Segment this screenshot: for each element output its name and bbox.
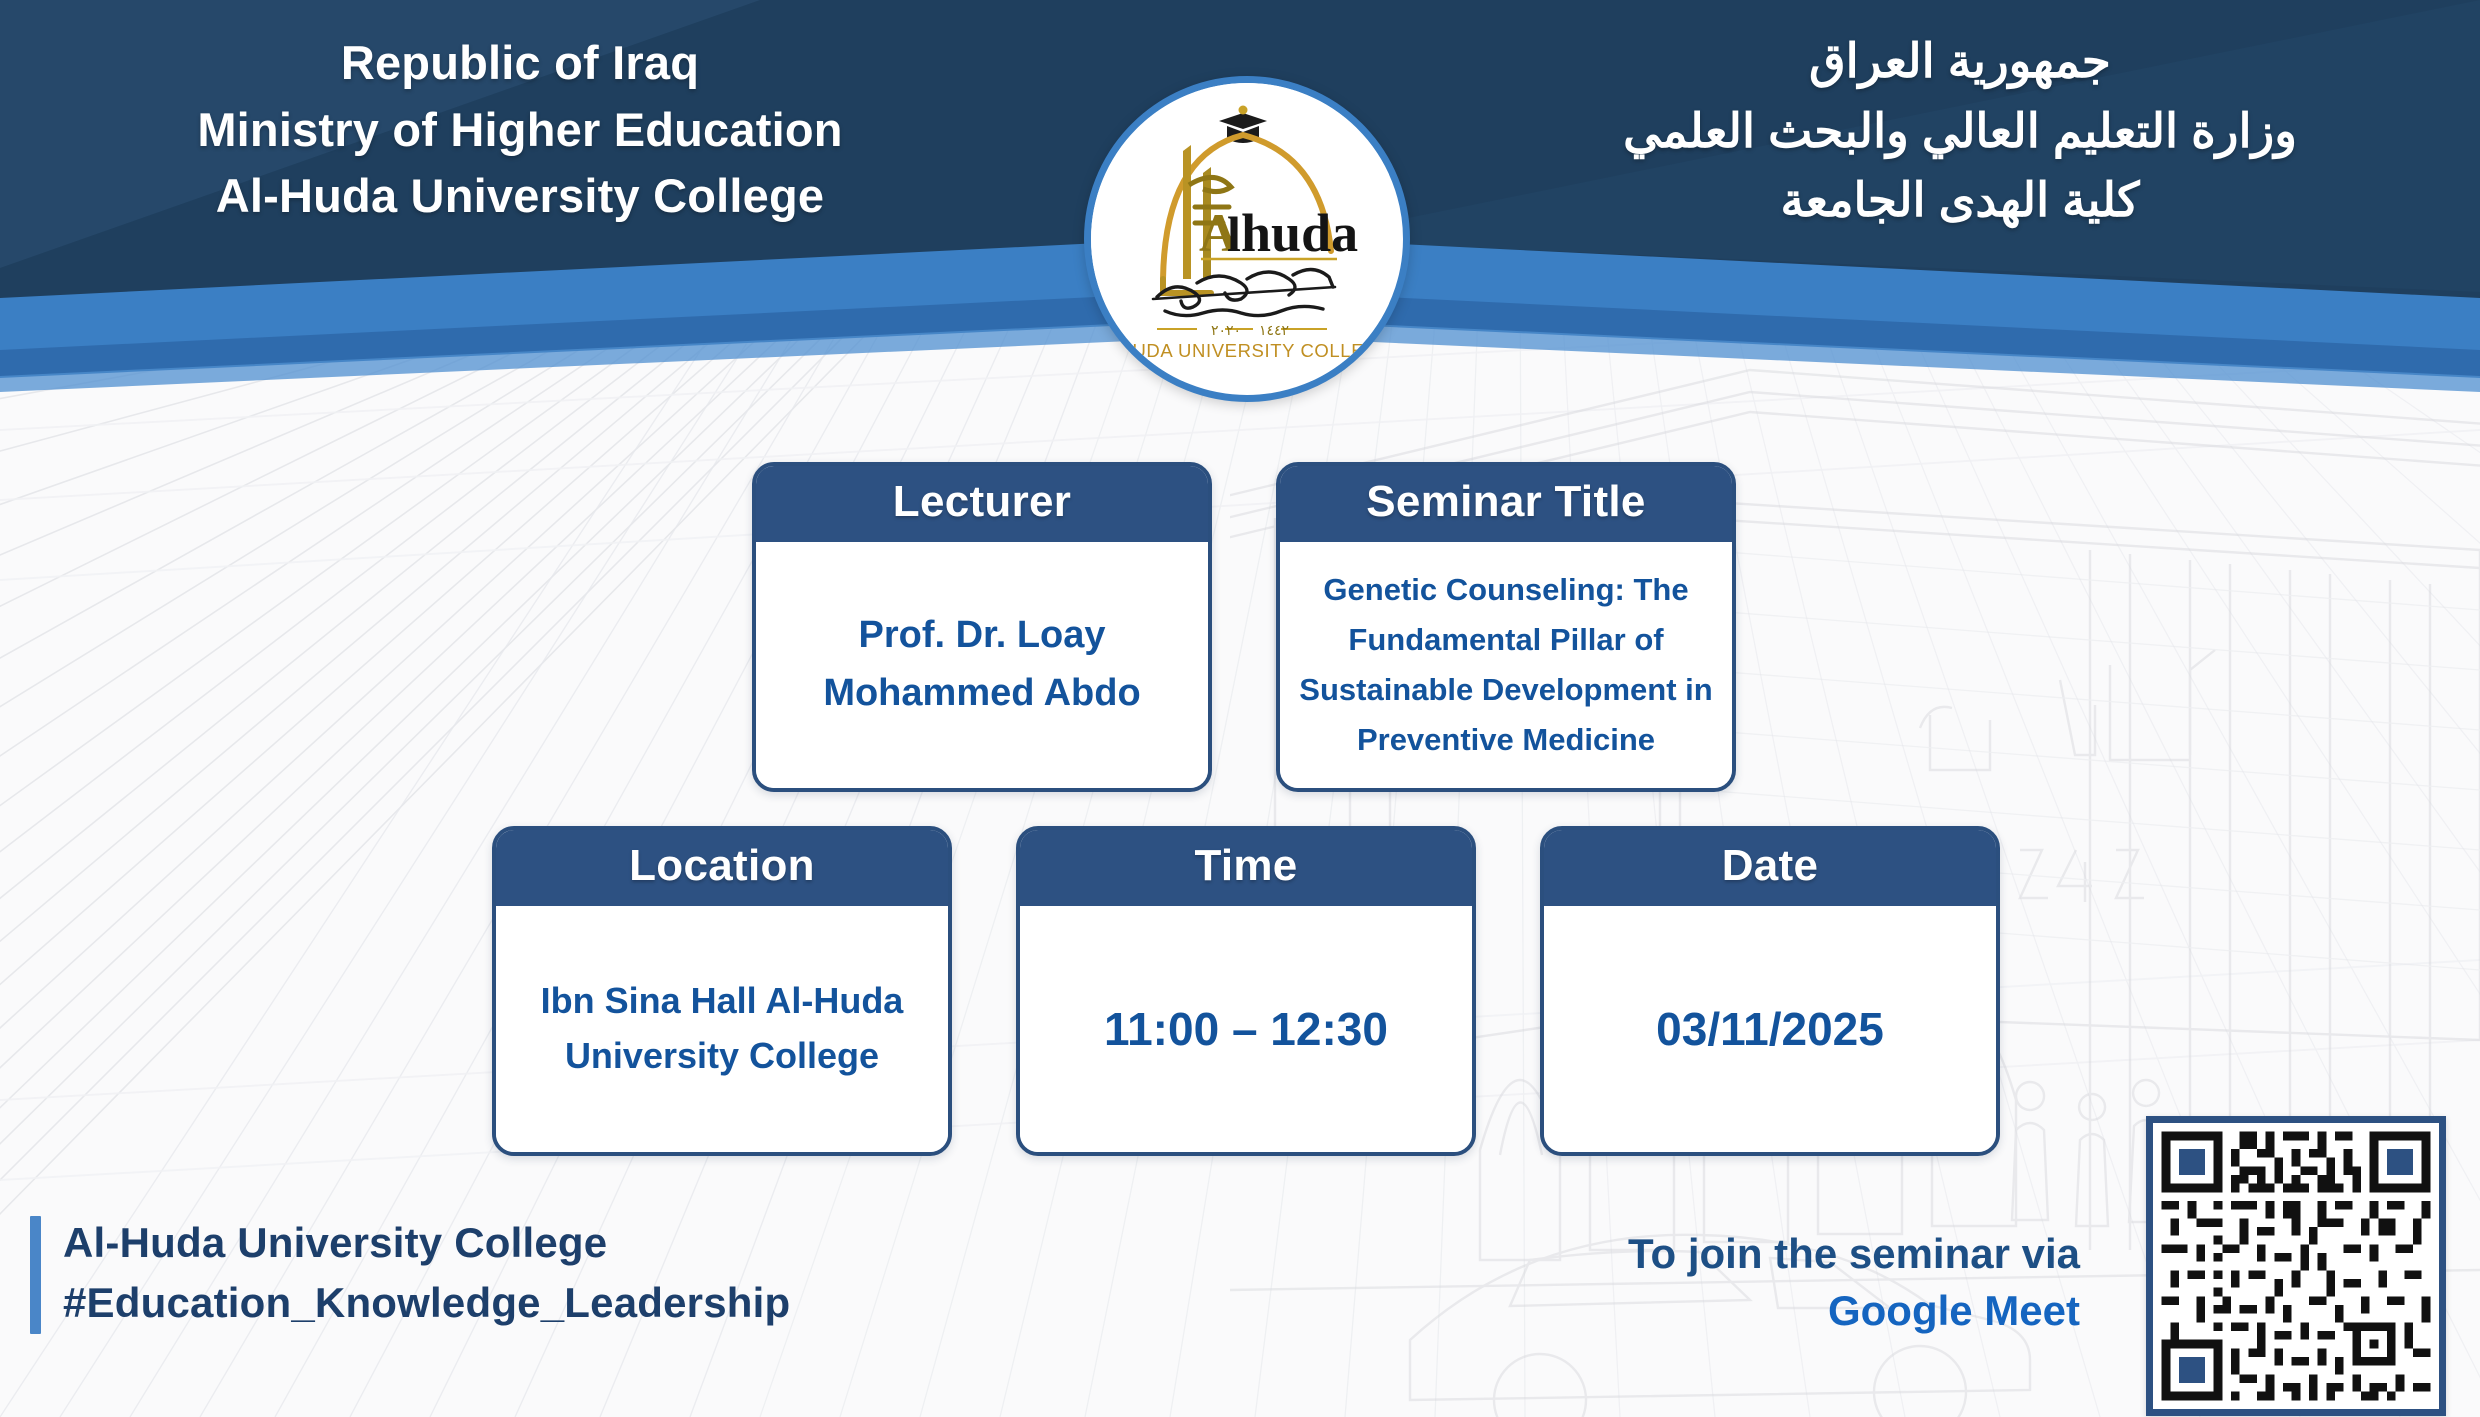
card-seminar-value: Genetic Counseling: The Fundamental Pill…	[1296, 565, 1716, 766]
logo-year-hijri: ١٤٤٢	[1259, 323, 1289, 339]
logo-english-name: AL-HUDA UNIVERSITY COLLEGE	[1091, 340, 1389, 361]
join-line-2: Google Meet	[1628, 1285, 2080, 1336]
card-location-body: Ibn Sina Hall Al-Huda University College	[496, 906, 948, 1152]
university-logo: A l huda ٢٠٢٠ ١٤٤٢ AL-HUDA UNIVERSITY CO…	[1084, 76, 1410, 402]
card-date-title: Date	[1544, 830, 1996, 906]
qr-code-matrix[interactable]	[2153, 1123, 2439, 1409]
header-en-line1: Republic of Iraq	[120, 30, 920, 97]
header-en-line2: Ministry of Higher Education	[120, 97, 920, 164]
logo-year-gregorian: ٢٠٢٠	[1211, 323, 1241, 339]
card-seminar-title: Seminar Title Genetic Counseling: The Fu…	[1276, 462, 1736, 792]
card-date-body: 03/11/2025	[1544, 906, 1996, 1152]
header-en-line3: Al-Huda University College	[120, 163, 920, 230]
header-ar-line1: جمهورية العراق	[1550, 26, 2370, 96]
card-time: Time 11:00 – 12:30	[1016, 826, 1476, 1156]
card-location-value: Ibn Sina Hall Al-Huda University College	[512, 974, 932, 1083]
card-seminar-body: Genetic Counseling: The Fundamental Pill…	[1280, 542, 1732, 788]
header-arabic-block: جمهورية العراق وزارة التعليم العالي والب…	[1550, 26, 2370, 235]
qr-code[interactable]	[2146, 1116, 2446, 1416]
svg-text:l: l	[1227, 206, 1241, 262]
card-location-title: Location	[496, 830, 948, 906]
logo-artwork: A l huda ٢٠٢٠ ١٤٤٢ AL-HUDA UNIVERSITY CO…	[1091, 83, 1389, 381]
footer-college-name: Al-Huda University College	[63, 1218, 790, 1268]
header-english-block: Republic of Iraq Ministry of Higher Educ…	[120, 30, 920, 230]
card-lecturer-body: Prof. Dr. Loay Mohammed Abdo	[756, 542, 1208, 788]
card-date: Date 03/11/2025	[1540, 826, 2000, 1156]
join-instructions: To join the seminar via Google Meet	[1628, 1228, 2080, 1336]
header-ar-line3: كلية الهدى الجامعة	[1550, 165, 2370, 235]
seminar-poster: Republic of Iraq Ministry of Higher Educ…	[0, 0, 2480, 1417]
svg-text:huda: huda	[1241, 203, 1358, 263]
card-seminar-title-label: Seminar Title	[1280, 466, 1732, 542]
join-line-1: To join the seminar via	[1628, 1228, 2080, 1279]
card-lecturer: Lecturer Prof. Dr. Loay Mohammed Abdo	[752, 462, 1212, 792]
card-time-body: 11:00 – 12:30	[1020, 906, 1472, 1152]
footer-hashtag: #Education_Knowledge_Leadership	[63, 1278, 790, 1328]
card-location: Location Ibn Sina Hall Al-Huda Universit…	[492, 826, 952, 1156]
card-lecturer-value: Prof. Dr. Loay Mohammed Abdo	[772, 607, 1192, 723]
card-time-value: 11:00 – 12:30	[1036, 997, 1456, 1061]
footer-accent-bar	[30, 1216, 41, 1334]
card-time-title: Time	[1020, 830, 1472, 906]
header-ar-line2: وزارة التعليم العالي والبحث العلمي	[1550, 96, 2370, 166]
footer-branding: Al-Huda University College #Education_Kn…	[30, 1216, 790, 1334]
card-lecturer-title: Lecturer	[756, 466, 1208, 542]
card-date-value: 03/11/2025	[1560, 997, 1980, 1061]
